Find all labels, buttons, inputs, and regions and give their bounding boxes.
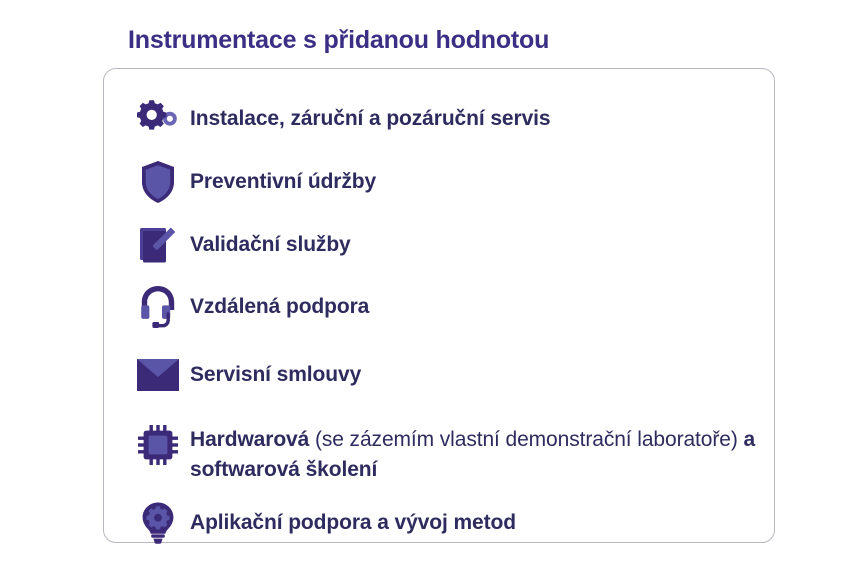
list-item-label: Hardwarová (se zázemím vlastní demonstra… [190, 414, 774, 485]
list-item-label: Preventivní údržby [190, 156, 774, 197]
page-title: Instrumentace s přidanou hodnotou [128, 26, 549, 55]
shield-icon [126, 156, 190, 208]
headset-icon [126, 281, 190, 333]
list-item[interactable]: Hardwarová (se zázemím vlastní demonstra… [104, 414, 774, 485]
list-item-label-segment: (se zázemím vlastní demonstrační laborat… [315, 428, 744, 451]
list-item-label-segment: Instalace, záruční a pozáruční servis [190, 107, 550, 130]
list-item[interactable]: Preventivní údržby [104, 156, 774, 210]
cpu-chip-icon [126, 414, 190, 476]
document-pen-icon [126, 219, 190, 271]
slide-root: Instrumentace s přidanou hodnotou [0, 0, 861, 582]
list-item[interactable]: Vzdálená podpora [104, 281, 774, 335]
list-item-label-segment: Validační služby [190, 233, 351, 256]
list-item-label-segment: Aplikační podpora a vývoj metod [190, 511, 516, 534]
list-item-label: Servisní smlouvy [190, 349, 774, 390]
services-list: Instalace, záruční a pozáruční servis Pr… [104, 69, 774, 542]
services-card: Instalace, záruční a pozáruční servis Pr… [103, 68, 775, 543]
lightbulb-gear-icon [126, 497, 190, 549]
list-item-label-segment: Hardwarová [190, 428, 315, 451]
list-item-label-segment: Vzdálená podpora [190, 295, 369, 318]
list-item-label-segment: Servisní smlouvy [190, 363, 361, 386]
list-item-label: Instalace, záruční a pozáruční servis [190, 93, 774, 134]
envelope-icon [126, 349, 190, 401]
list-item[interactable]: Instalace, záruční a pozáruční servis [104, 93, 774, 147]
list-item-label: Aplikační podpora a vývoj metod [190, 497, 774, 538]
list-item-label: Validační služby [190, 219, 774, 260]
list-item[interactable]: Servisní smlouvy [104, 349, 774, 403]
list-item[interactable]: Aplikační podpora a vývoj metod [104, 497, 774, 551]
list-item-label-segment: Preventivní údržby [190, 170, 376, 193]
gears-icon [126, 93, 190, 145]
list-item-label: Vzdálená podpora [190, 281, 774, 322]
list-item[interactable]: Validační služby [104, 219, 774, 273]
